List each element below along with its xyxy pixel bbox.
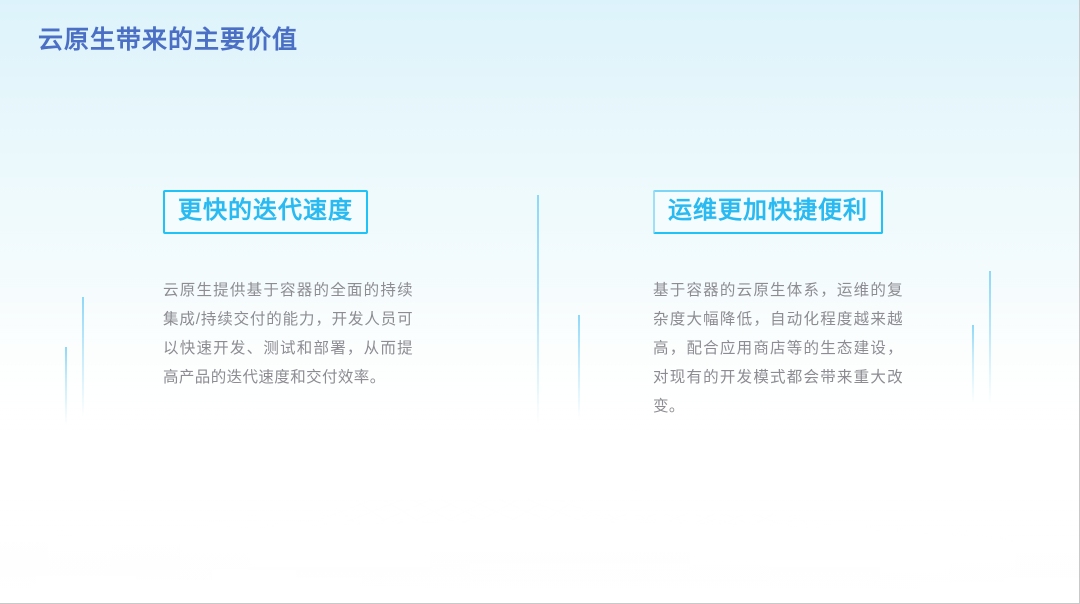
graphic-step-block (352, 586, 426, 603)
value-body-faster-iteration: 云原生提供基于容器的全面的持续集成/持续交付的能力，开发人员可以快速开发、测试和… (163, 276, 413, 392)
decorative-vertical-rule (537, 195, 539, 423)
value-body-easier-operations: 基于容器的云原生体系，运维的复杂度大幅降低，自动化程度越来越高，配合应用商店等的… (653, 276, 903, 421)
page-title: 云原生带来的主要价值 (38, 20, 298, 56)
decorative-vertical-rule (82, 297, 84, 417)
value-column-faster-iteration: 更快的迭代速度 云原生提供基于容器的全面的持续集成/持续交付的能力，开发人员可以… (163, 190, 433, 392)
graphic-step-block (48, 540, 118, 580)
graphic-horizon-haze (0, 428, 1079, 498)
graphic-step-block (1004, 578, 1079, 603)
value-column-easier-operations: 运维更加快捷便利 基于容器的云原生体系，运维的复杂度大幅降低，自动化程度越来越高… (653, 190, 923, 421)
decorative-vertical-rule (578, 315, 580, 420)
decorative-vertical-rule (65, 347, 67, 425)
value-heading-faster-iteration: 更快的迭代速度 (163, 190, 368, 234)
graphic-step-block (920, 582, 1016, 603)
graphic-ridge-band (470, 564, 770, 580)
graphic-step-block (284, 578, 362, 603)
graphic-step-block (112, 534, 184, 580)
bottom-decorative-graphic (0, 428, 1079, 603)
value-heading-easier-operations: 运维更加快捷便利 (653, 190, 883, 234)
decorative-vertical-rule (972, 325, 974, 403)
graphic-step-block (36, 576, 136, 602)
decorative-vertical-rule (989, 271, 991, 403)
slide-canvas: 云原生带来的主要价值 更快的迭代速度 云原生提供基于容器的全面的持续集成/持续交… (0, 0, 1080, 604)
